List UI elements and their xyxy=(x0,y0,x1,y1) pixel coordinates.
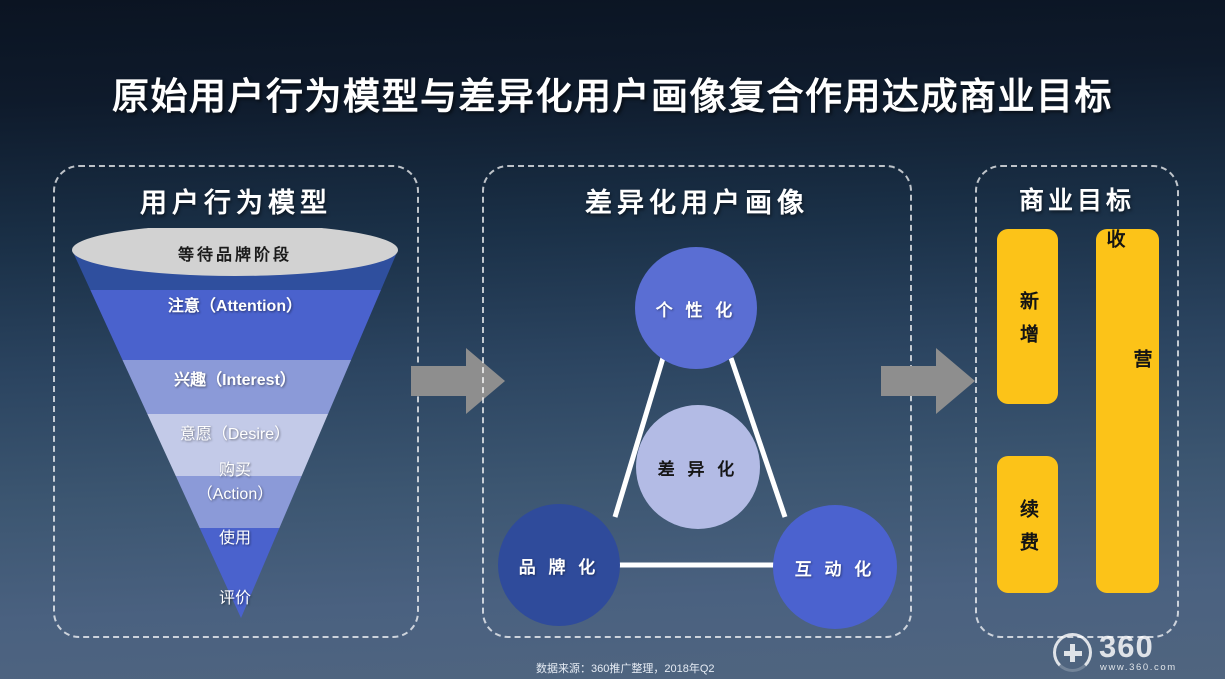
brand-logo-360: 360 www.360.com xyxy=(1053,631,1203,675)
goal-bar-new-users[interactable]: 新增 xyxy=(997,229,1058,404)
panel-title-goal: 商业目标 xyxy=(977,181,1177,217)
persona-node-differentiated[interactable]: 差 异 化 xyxy=(636,405,760,529)
persona-node-personalized[interactable]: 个 性 化 xyxy=(635,247,757,369)
source-note: 数据来源：360推广整理，2018年Q2 xyxy=(536,660,715,676)
panel-title-user-behavior: 用户行为模型 xyxy=(55,181,417,220)
persona-node-branding[interactable]: 品 牌 化 xyxy=(498,504,620,626)
goal-bar-renewal[interactable]: 续费 xyxy=(997,456,1058,593)
persona-node-interactive[interactable]: 互 动 化 xyxy=(773,505,897,629)
page-title: 原始用户行为模型与差异化用户画像复合作用达成商业目标 xyxy=(0,66,1225,120)
goal-bar-revenue[interactable]: 营收 xyxy=(1096,229,1159,593)
logo-url: www.360.com xyxy=(1100,662,1177,673)
funnel-shape xyxy=(55,228,415,623)
panel-title-persona: 差异化用户画像 xyxy=(484,181,910,220)
funnel-chart: 等待品牌阶段 注意（Attention） 兴趣（Interest） 意愿（Des… xyxy=(55,228,415,623)
plus-circle-icon xyxy=(1053,633,1092,672)
slide-canvas: 原始用户行为模型与差异化用户画像复合作用达成商业目标 用户行为模型 等待品牌阶段… xyxy=(0,0,1225,679)
arrow-right-icon-2 xyxy=(881,348,975,414)
logo-wordmark: 360 xyxy=(1099,631,1154,663)
